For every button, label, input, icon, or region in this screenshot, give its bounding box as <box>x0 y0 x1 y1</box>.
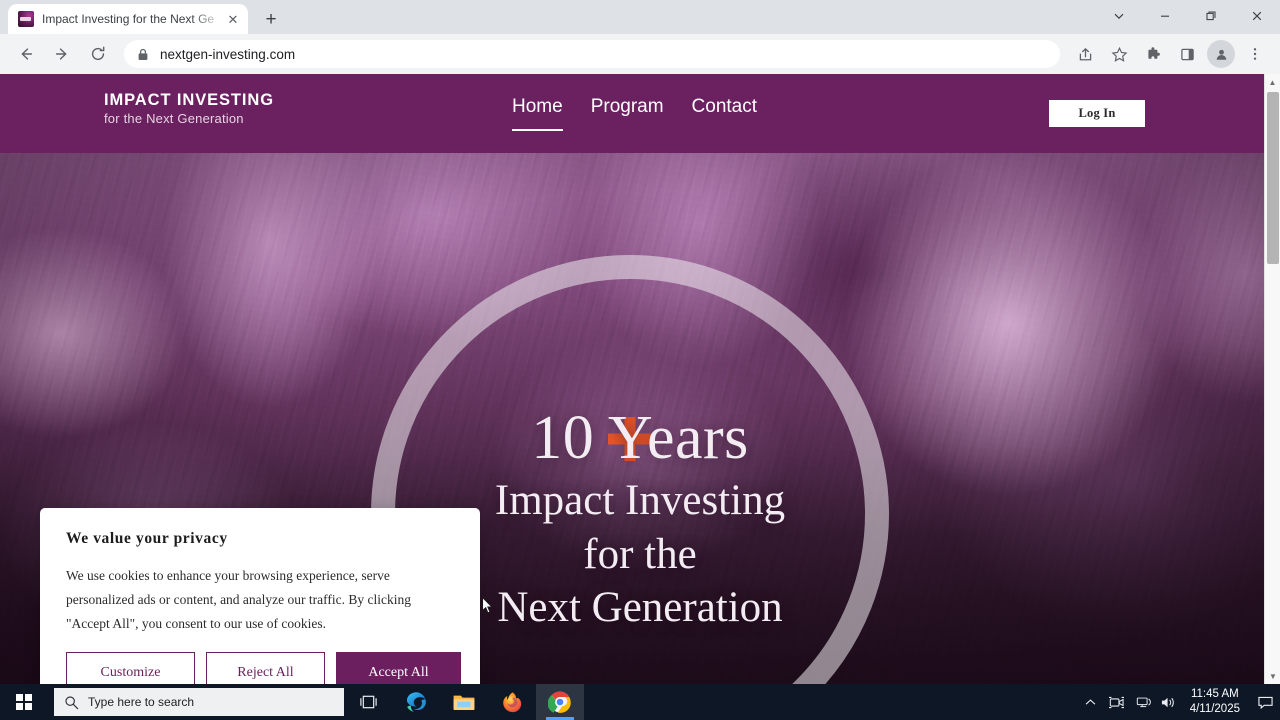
nav-item-home[interactable]: Home <box>512 96 563 131</box>
clock-time: 11:45 AM <box>1191 687 1239 702</box>
google-chrome-icon[interactable] <box>536 684 584 720</box>
chevron-down-icon[interactable] <box>1096 0 1142 32</box>
close-icon[interactable] <box>1234 0 1280 32</box>
logo-tagline: for the Next Generation <box>104 112 274 126</box>
new-tab-button[interactable]: + <box>258 6 284 32</box>
customize-button[interactable]: Customize <box>66 652 195 684</box>
browser-toolbar: nextgen-investing.com <box>0 34 1280 74</box>
profile-avatar-icon[interactable] <box>1207 40 1235 68</box>
taskbar-clock[interactable]: 11:45 AM 4/11/2025 <box>1182 684 1250 720</box>
nav-item-program[interactable]: Program <box>591 96 664 129</box>
site-favicon <box>18 11 34 27</box>
notification-icon[interactable] <box>1250 684 1280 720</box>
side-panel-icon[interactable] <box>1173 40 1201 68</box>
close-icon[interactable]: ✕ <box>224 10 242 28</box>
windows-taskbar: Type here to search <box>0 684 1280 720</box>
search-icon <box>64 695 79 710</box>
microsoft-edge-icon[interactable] <box>392 684 440 720</box>
window-controls <box>1096 0 1280 32</box>
reject-all-button[interactable]: Reject All <box>206 652 325 684</box>
mozilla-firefox-icon[interactable] <box>488 684 536 720</box>
share-icon[interactable] <box>1071 40 1099 68</box>
three-dot-menu-icon[interactable] <box>1241 40 1269 68</box>
lock-icon <box>136 47 150 61</box>
tab-title: Impact Investing for the Next Ge <box>42 12 224 26</box>
reload-icon[interactable] <box>83 39 113 69</box>
address-bar[interactable]: nextgen-investing.com <box>124 40 1060 68</box>
hero-line-1: 10 Years <box>0 407 1280 469</box>
mouse-cursor <box>482 597 493 614</box>
back-arrow-icon[interactable] <box>11 39 41 69</box>
forward-arrow-icon[interactable] <box>47 39 77 69</box>
url-text: nextgen-investing.com <box>160 47 295 62</box>
clock-date: 4/11/2025 <box>1190 702 1240 717</box>
cookie-dialog-title: We value your privacy <box>66 530 454 548</box>
speaker-icon[interactable] <box>1156 684 1182 720</box>
logo-title: IMPACT INVESTING <box>104 92 274 109</box>
site-logo[interactable]: IMPACT INVESTING for the Next Generation <box>104 92 274 126</box>
scrollbar-thumb[interactable] <box>1267 92 1279 264</box>
puzzle-icon[interactable] <box>1139 40 1167 68</box>
search-placeholder: Type here to search <box>88 695 194 709</box>
accept-all-button[interactable]: Accept All <box>336 652 461 684</box>
cookie-consent-dialog: We value your privacy We use cookies to … <box>40 508 480 684</box>
cookie-dialog-actions: Customize Reject All Accept All <box>66 652 461 684</box>
minimize-icon[interactable] <box>1142 0 1188 32</box>
maximize-icon[interactable] <box>1188 0 1234 32</box>
file-explorer-icon[interactable] <box>440 684 488 720</box>
page-scrollbar[interactable]: ▲ ▼ <box>1264 74 1280 684</box>
scrollbar-up-arrow[interactable]: ▲ <box>1265 74 1280 90</box>
browser-tab[interactable]: Impact Investing for the Next Ge ✕ <box>8 4 248 34</box>
nav-item-contact[interactable]: Contact <box>692 96 757 129</box>
windows-start-icon[interactable] <box>0 684 48 720</box>
login-button[interactable]: Log In <box>1049 100 1145 127</box>
scrollbar-down-arrow[interactable]: ▼ <box>1265 668 1280 684</box>
star-icon[interactable] <box>1105 40 1133 68</box>
taskbar-search-input[interactable]: Type here to search <box>54 688 344 716</box>
network-icon[interactable] <box>1130 684 1156 720</box>
page-viewport: IMPACT INVESTING for the Next Generation… <box>0 74 1280 684</box>
screen: Impact Investing for the Next Ge ✕ + <box>0 0 1280 720</box>
chevron-up-icon[interactable] <box>1078 684 1104 720</box>
tab-strip: Impact Investing for the Next Ge ✕ + <box>0 0 1280 34</box>
browser-window: Impact Investing for the Next Ge ✕ + <box>0 0 1280 684</box>
task-view-icon[interactable] <box>344 684 392 720</box>
main-navigation: Home Program Contact <box>512 96 757 131</box>
camera-record-icon[interactable] <box>1104 684 1130 720</box>
cookie-dialog-body: We use cookies to enhance your browsing … <box>66 564 454 636</box>
system-tray: 11:45 AM 4/11/2025 <box>1078 684 1280 720</box>
